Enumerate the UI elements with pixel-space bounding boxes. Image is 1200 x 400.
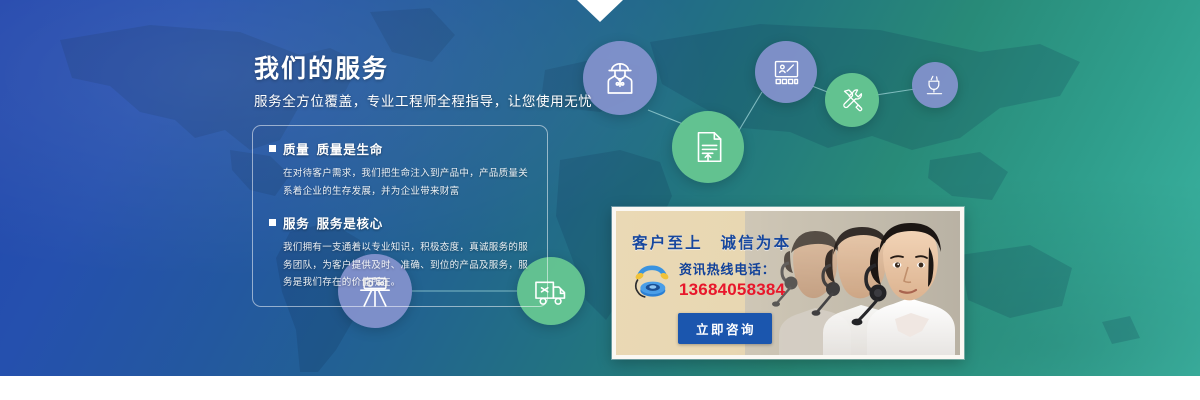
node-training-board[interactable]: [755, 41, 817, 103]
engineer-hardhat-icon: [600, 58, 640, 98]
square-bullet-icon: [269, 219, 276, 226]
consult-now-button[interactable]: 立即咨询: [678, 313, 772, 344]
node-tools[interactable]: [825, 73, 879, 127]
rotary-telephone-icon: [632, 265, 672, 304]
node-hand-plug[interactable]: [912, 62, 958, 108]
service-item-heading: 质量 质量是生命: [269, 139, 531, 158]
card-slogan: 客户至上 诚信为本: [632, 231, 791, 253]
service-item-quality: 质量 质量是生命 在对待客户需求，我们把生命注入到产品中，产品质量关系着企业的生…: [269, 139, 531, 200]
page-title: 我们的服务: [254, 55, 552, 84]
service-item-body: 在对待客户需求，我们把生命注入到产品中，产品质量关系着企业的生存发展，并为企业带…: [269, 165, 531, 200]
contact-card: 客户至上 诚信为本 资讯热线电话： 1: [612, 207, 964, 359]
services-detail-box: 质量 质量是生命 在对待客户需求，我们把生命注入到产品中，产品质量关系着企业的生…: [252, 125, 548, 307]
contact-card-text: 客户至上 诚信为本 资讯热线电话： 1: [632, 231, 791, 344]
page-subtitle: 服务全方位覆盖，专业工程师全程指导，让您使用无忧: [254, 93, 552, 111]
service-item-heading: 服务 服务是核心: [269, 213, 531, 232]
hand-plug-icon: [922, 72, 948, 98]
service-banner: 我们的服务 服务全方位覆盖，专业工程师全程指导，让您使用无忧 质量 质量是生命 …: [0, 0, 1200, 376]
service-item-label: 服务: [283, 213, 310, 232]
hotline-row: 资讯热线电话： 13684058384: [632, 262, 791, 304]
training-board-icon: [770, 56, 803, 89]
service-item-headline: 质量是生命: [317, 139, 384, 158]
node-document-upload[interactable]: [672, 111, 744, 183]
hotline-text: 资讯热线电话： 13684058384: [679, 262, 785, 301]
tools-wrench-hammer-icon: [837, 85, 867, 115]
square-bullet-icon: [269, 145, 276, 152]
hotline-number: 13684058384: [679, 279, 785, 301]
service-item-label: 质量: [283, 139, 310, 158]
service-item-body: 我们拥有一支通着以专业知识，积极态度，真诚服务的服务团队，为客户提供及时、准确、…: [269, 239, 531, 292]
services-text-block: 我们的服务 服务全方位覆盖，专业工程师全程指导，让您使用无忧 质量 质量是生命 …: [252, 55, 552, 307]
service-flow-diagram: [0, 0, 1200, 376]
node-engineer-hardhat[interactable]: [583, 41, 657, 115]
document-upload-icon: [689, 128, 727, 166]
service-item-service: 服务 服务是核心 我们拥有一支通着以专业知识，积极态度，真诚服务的服务团队，为客…: [269, 213, 531, 292]
service-item-headline: 服务是核心: [317, 213, 384, 232]
hotline-label: 资讯热线电话：: [679, 262, 785, 278]
